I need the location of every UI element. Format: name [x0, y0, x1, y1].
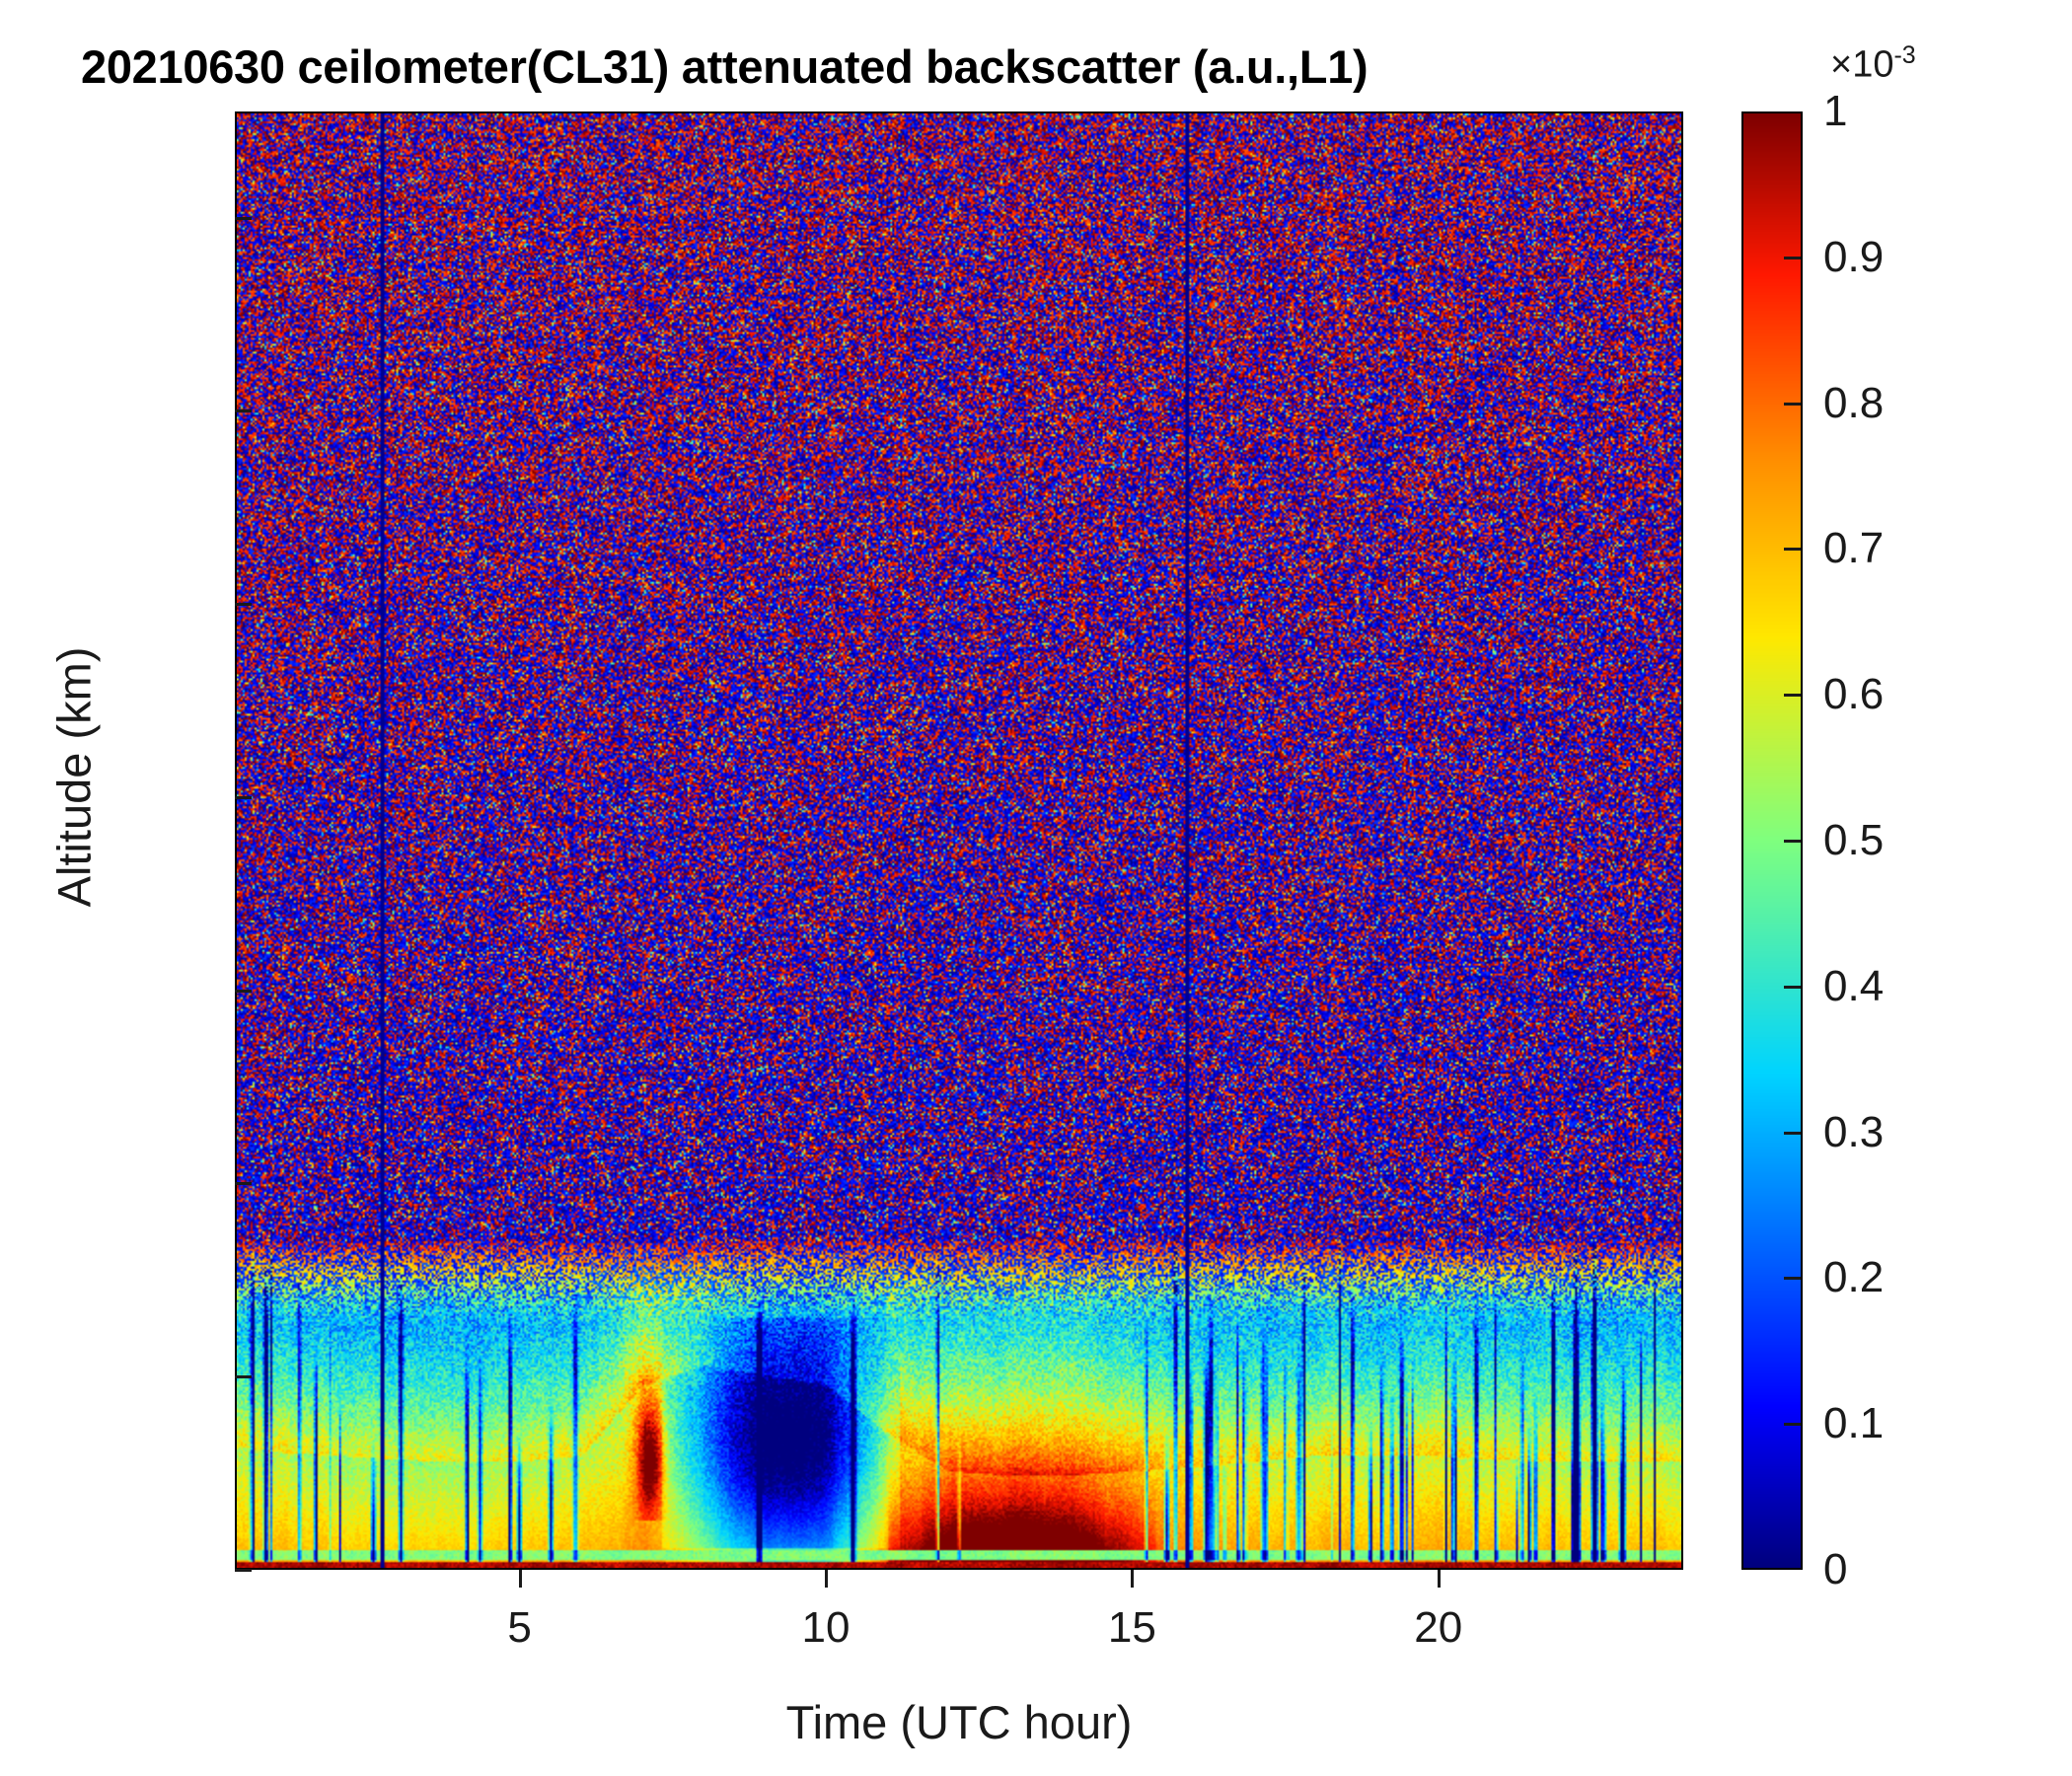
- colorbar-tick-label: 0.8: [1823, 379, 1884, 428]
- y-tick-mark: [235, 1375, 252, 1378]
- x-tick-mark: [825, 1570, 828, 1588]
- backscatter-heatmap-canvas: [237, 113, 1681, 1568]
- colorbar-tick-label: 0.6: [1823, 670, 1884, 719]
- y-tick-mark: [235, 990, 252, 993]
- colorbar-tick-label: 0.9: [1823, 233, 1884, 282]
- y-tick-mark: [235, 603, 252, 606]
- page-title: 20210630 ceilometer(CL31) attenuated bac…: [81, 39, 1368, 94]
- colorbar-tick-label: 0.3: [1823, 1108, 1884, 1157]
- colorbar-tick-mark: [1784, 840, 1801, 843]
- colorbar-tick-mark: [1784, 1132, 1801, 1135]
- colorbar-tick-mark: [1784, 403, 1801, 406]
- colorbar-tick-label: 0.2: [1823, 1253, 1884, 1302]
- colorbar-tick-label: 0: [1823, 1545, 1847, 1594]
- x-tick-label: 10: [802, 1603, 851, 1653]
- x-tick-mark: [1131, 1570, 1134, 1588]
- y-tick-mark: [235, 409, 252, 412]
- x-axis-label: Time (UTC hour): [235, 1695, 1683, 1749]
- colorbar-tick-mark: [1784, 257, 1801, 259]
- colorbar-tick-mark: [1784, 1423, 1801, 1426]
- y-tick-mark: [235, 796, 252, 799]
- y-tick-mark: [235, 1182, 252, 1185]
- colorbar-tick-mark: [1784, 694, 1801, 697]
- x-tick-mark: [519, 1570, 522, 1588]
- colorbar-tick-label: 0.1: [1823, 1399, 1884, 1448]
- colorbar-tick-label: 1: [1823, 87, 1847, 136]
- colorbar-exponent-label: ×10-3: [1830, 41, 1916, 87]
- colorbar-exponent-base: ×10: [1830, 44, 1893, 86]
- x-tick-label: 5: [507, 1603, 531, 1653]
- colorbar-exponent-power: -3: [1893, 41, 1915, 69]
- y-tick-mark: [235, 1569, 252, 1572]
- heatmap-plot-area: [235, 111, 1683, 1570]
- colorbar-tick-label: 0.5: [1823, 816, 1884, 865]
- x-tick-label: 20: [1414, 1603, 1462, 1653]
- colorbar-tick-mark: [1784, 1277, 1801, 1280]
- y-tick-mark: [235, 217, 252, 220]
- colorbar-tick-label: 0.4: [1823, 962, 1884, 1011]
- y-axis-label: Altitude (km): [47, 570, 102, 985]
- colorbar-tick-mark: [1784, 986, 1801, 989]
- x-tick-label: 15: [1108, 1603, 1156, 1653]
- colorbar-tick-mark: [1784, 548, 1801, 551]
- x-tick-mark: [1438, 1570, 1441, 1588]
- colorbar-tick-label: 0.7: [1823, 524, 1884, 573]
